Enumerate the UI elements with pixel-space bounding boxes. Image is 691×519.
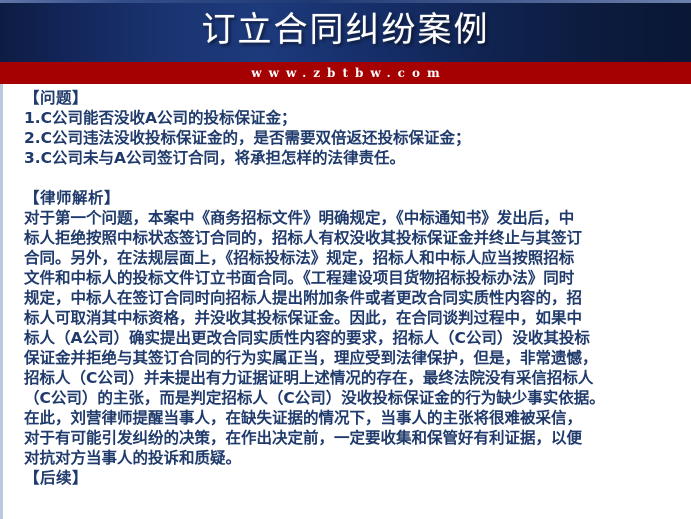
body-text-block: 【问题】1.C公司能否没收A公司的投标保证金；2.C公司违法没收投标保证金的，是… <box>24 88 687 488</box>
body-line-a-l09: 招标人（C公司）并未提出有力证据证明上述情况的存在，最终法院没有采信招标人 <box>24 368 687 388</box>
body-line-q-2: 2.C公司违法没收投标保证金的，是否需要双倍返还投标保证金； <box>24 128 687 148</box>
body-line-a-l05: 规定，中标人在签订合同时向招标人提出附加条件或者更改合同实质性内容的，招 <box>24 288 687 308</box>
body-line-a-heading: 【律师解析】 <box>24 188 687 208</box>
body-line-a-l03: 合同。另外，在法规层面上，《招标投标法》规定，招标人和中标人应当按照招标 <box>24 248 687 268</box>
body-line-q-1: 1.C公司能否没收A公司的投标保证金； <box>24 108 687 128</box>
body-line-a-l10: （C公司）的主张，而是判定招标人（C公司）没收投标保证金的行为缺少事实依据。 <box>24 388 687 408</box>
body-line-a-l02: 标人拒绝按照中标状态签订合同的，招标人有权没收其投标保证金并终止与其签订 <box>24 228 687 248</box>
body-line-q-heading: 【问题】 <box>24 88 687 108</box>
body-line-a-l08: 保证金并拒绝与其签订合同的行为实属正当，理应受到法律保护，但是，非常遗憾， <box>24 348 687 368</box>
website-url-text: www.zbtbw.com <box>0 62 691 84</box>
slide-header-banner: 订立合同纠纷案例 <box>0 0 691 62</box>
body-line-a-l06: 标人可取消其中标资格，并没收其投标保证金。因此，在合同谈判过程中，如果中 <box>24 308 687 328</box>
body-line-gap-1 <box>24 168 687 188</box>
slide-root: 订立合同纠纷案例 www.zbtbw.com 【问题】1.C公司能否没收A公司的… <box>0 0 691 519</box>
body-line-a-l04: 文件和中标人的投标文件订立书面合同。《工程建设项目货物招标投标办法》同时 <box>24 268 687 288</box>
body-line-f-heading: 【后续】 <box>24 468 687 488</box>
body-line-a-l13: 对抗对方当事人的投诉和质疑。 <box>24 448 687 468</box>
body-line-a-l11: 在此，刘营律师提醒当事人，在缺失证据的情况下，当事人的主张将很难被采信， <box>24 408 687 428</box>
page-title: 订立合同纠纷案例 <box>0 7 691 53</box>
body-line-a-l07: 标人（A公司）确实提出更改合同实质性内容的要求，招标人（C公司）没收其投标 <box>24 328 687 348</box>
body-line-a-l12: 对于有可能引发纠纷的决策，在作出决定前，一定要收集和保管好有利证据，以便 <box>24 428 687 448</box>
body-line-a-l01: 对于第一个问题，本案中《商务招标文件》明确规定，《中标通知书》发出后，中 <box>24 208 687 228</box>
body-line-q-3: 3.C公司未与A公司签订合同，将承担怎样的法律责任。 <box>24 148 687 168</box>
website-url-bar: www.zbtbw.com <box>0 62 691 84</box>
slide-body: 【问题】1.C公司能否没收A公司的投标保证金；2.C公司违法没收投标保证金的，是… <box>0 84 691 519</box>
